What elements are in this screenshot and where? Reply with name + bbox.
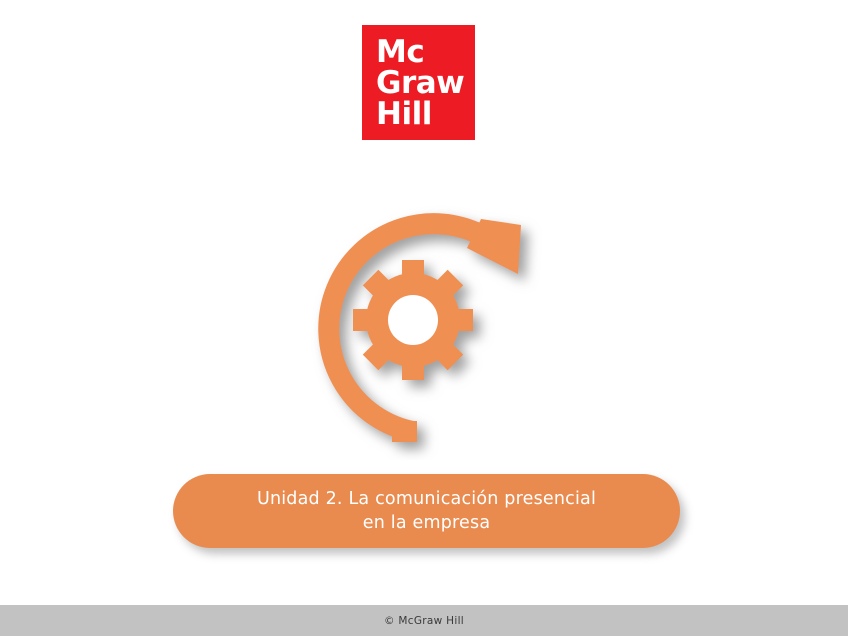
logo-line-graw: Graw <box>376 68 475 99</box>
slide-footer: © McGraw Hill <box>0 605 848 636</box>
slide-title-banner: Unidad 2. La comunicación presencial en … <box>173 474 680 548</box>
circular-arrow-gear-icon <box>268 185 558 460</box>
presentation-slide: Mc Graw Hill <box>0 0 848 636</box>
logo-line-mc: Mc <box>376 37 475 68</box>
slide-title: Unidad 2. La comunicación presencial en … <box>257 487 596 535</box>
footer-copyright: © McGraw Hill <box>384 615 464 627</box>
mcgraw-hill-logo: Mc Graw Hill <box>362 25 475 140</box>
logo-line-hill: Hill <box>376 99 475 130</box>
